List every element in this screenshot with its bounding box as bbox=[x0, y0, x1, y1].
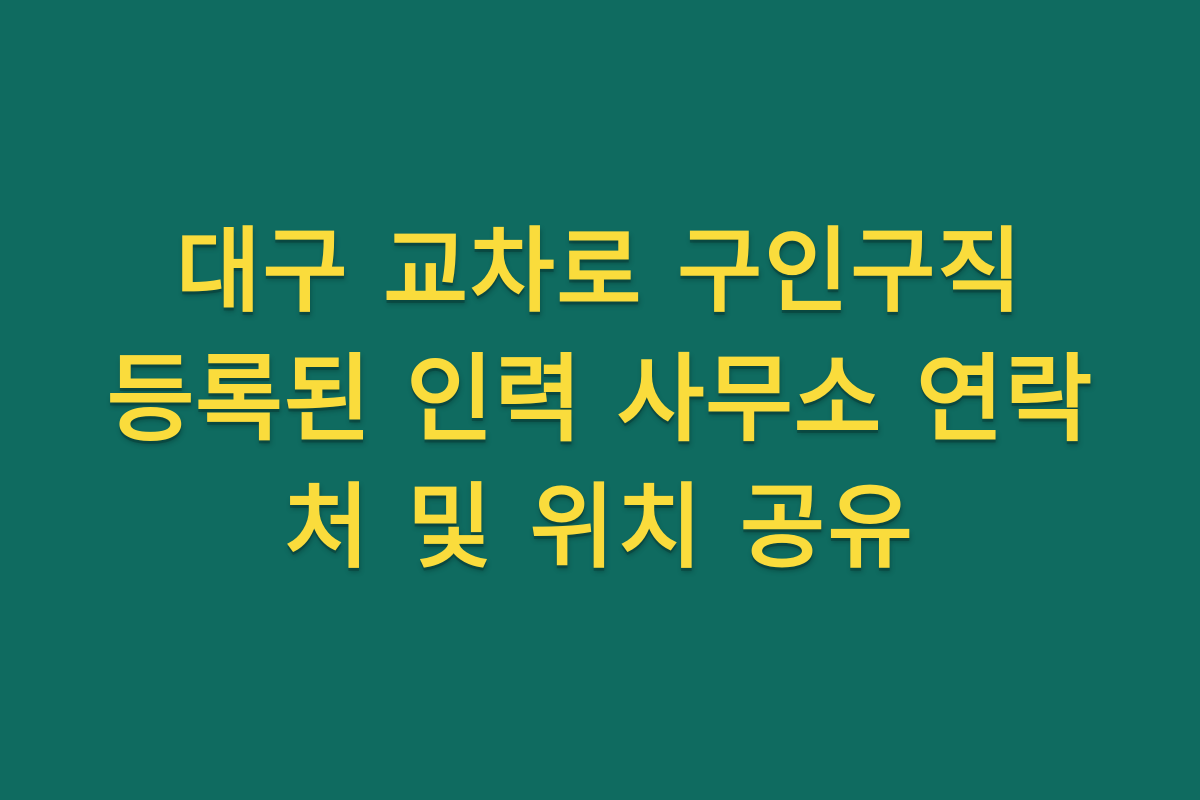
banner-canvas: 대구 교차로 구인구직 등록된 인력 사무소 연락 처 및 위치 공유 bbox=[0, 0, 1200, 800]
title-line-1: 대구 교차로 구인구직 bbox=[24, 208, 1176, 336]
title-line-2: 등록된 인력 사무소 연락 bbox=[24, 336, 1176, 464]
title-line-3: 처 및 위치 공유 bbox=[24, 464, 1176, 592]
title-block: 대구 교차로 구인구직 등록된 인력 사무소 연락 처 및 위치 공유 bbox=[0, 208, 1200, 592]
